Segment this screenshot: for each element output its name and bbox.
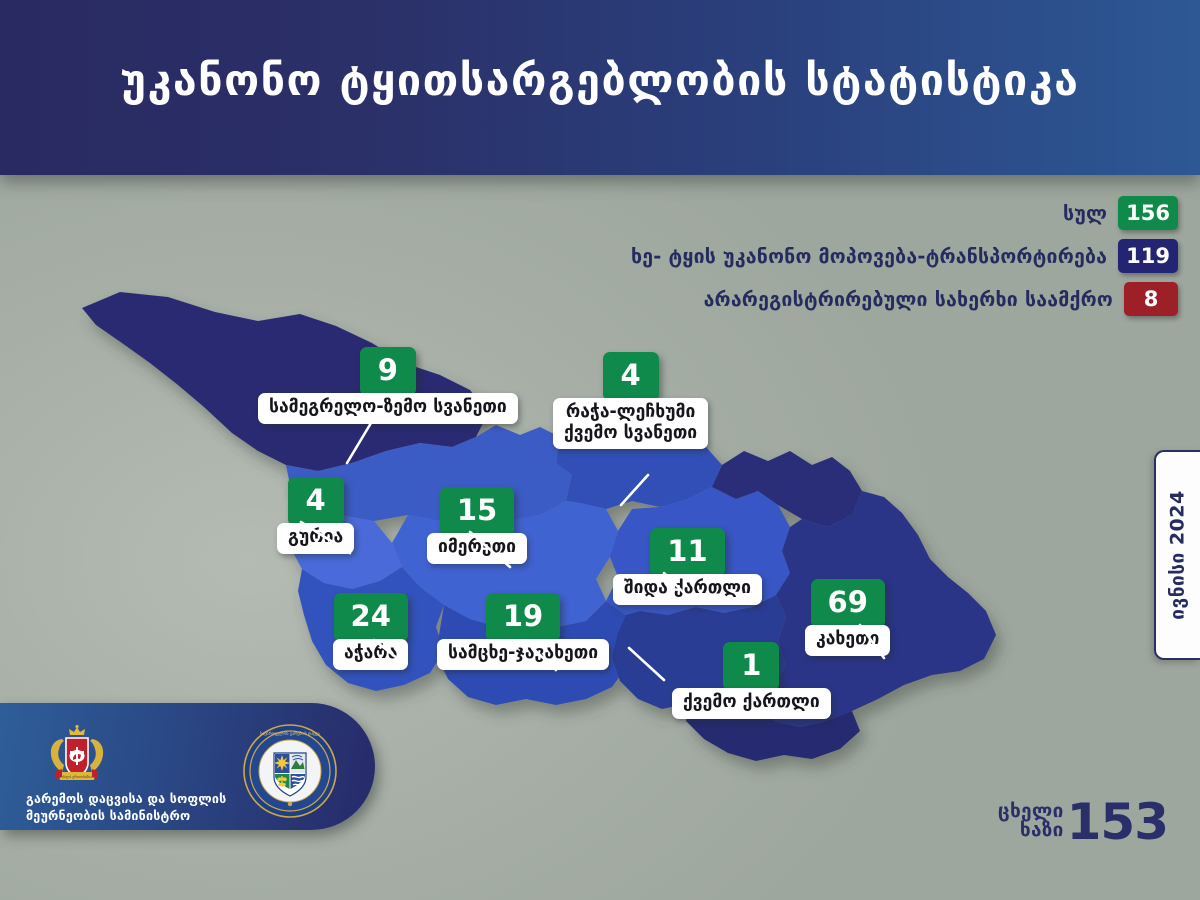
map-marker-shida-kartli[interactable]: 11 შიდა ქართლი — [613, 528, 762, 605]
map-marker-imereti[interactable]: 15 იმერეთი — [427, 487, 527, 564]
hotline-label-line1: ცხელი — [998, 802, 1064, 821]
date-label: ივნისი 2024 — [1167, 490, 1189, 619]
marker-value: 11 — [650, 528, 724, 577]
ministry-name: გარემოს დაცვისა და სოფლის მეურნეობის სამ… — [26, 791, 276, 824]
marker-label: სამცხე-ჯავახეთი — [437, 639, 609, 670]
hotline-label-line2: ხაზი — [998, 821, 1064, 840]
infographic-canvas: უკანონო ტყითსარგებლობის სტატისტიკა სულ 1… — [0, 0, 1200, 900]
hotline: ცხელი ხაზი 153 — [998, 799, 1168, 845]
marker-label: კახეთი — [805, 625, 890, 656]
georgia-coat-of-arms-icon: ძალა ერთობაშია — [42, 725, 112, 787]
marker-label: გურია — [277, 523, 354, 554]
map-marker-guria[interactable]: 4 გურია — [277, 477, 354, 554]
map-marker-samtskhe-javakheti[interactable]: 19 სამცხე-ჯავახეთი — [437, 593, 609, 670]
marker-value: 24 — [334, 593, 408, 642]
svg-text:ძალა ერთობაშია: ძალა ერთობაშია — [62, 775, 92, 779]
marker-value: 1 — [723, 642, 779, 691]
hotline-label: ცხელი ხაზი — [998, 802, 1064, 843]
map-marker-kakheti[interactable]: 69 კახეთი — [805, 579, 890, 656]
marker-label-line2: ქვემო სვანეთი — [564, 423, 697, 443]
ministry-name-line1: გარემოს დაცვისა და სოფლის — [26, 791, 276, 808]
marker-label: შიდა ქართლი — [613, 574, 762, 605]
page-title: უკანონო ტყითსარგებლობის სტატისტიკა — [121, 56, 1080, 120]
map-regions-group — [82, 292, 996, 761]
marker-value: 69 — [811, 579, 885, 628]
marker-label-line1: რაჭა-ლეჩხუმი — [566, 402, 696, 422]
date-tab: ივნისი 2024 — [1154, 450, 1200, 660]
map-marker-racha-lechkhumi[interactable]: 4 რაჭა-ლეჩხუმი ქვემო სვანეთი — [553, 352, 708, 449]
hotline-number: 153 — [1067, 799, 1168, 845]
ministry-seal-icon: საქართველოს გარემოს დაცვა — [242, 723, 338, 819]
map-marker-samegrelo-zemo-svaneti[interactable]: 9 სამეგრელო-ზემო სვანეთი — [258, 347, 518, 424]
marker-value: 9 — [360, 347, 416, 396]
header-banner: უკანონო ტყითსარგებლობის სტატისტიკა — [0, 0, 1200, 175]
marker-value: 4 — [603, 352, 659, 401]
map-marker-adjara[interactable]: 24 აჭარა — [333, 593, 408, 670]
ministry-name-line2: მეურნეობის სამინისტრო — [26, 808, 276, 825]
marker-label: ქვემო ქართლი — [672, 688, 831, 719]
marker-label: იმერეთი — [427, 533, 527, 564]
marker-value: 19 — [486, 593, 560, 642]
marker-label: რაჭა-ლეჩხუმი ქვემო სვანეთი — [553, 398, 708, 449]
marker-label: სამეგრელო-ზემო სვანეთი — [258, 393, 518, 424]
marker-label: აჭარა — [333, 639, 408, 670]
marker-value: 4 — [288, 477, 344, 526]
svg-text:საქართველოს გარემოს დაცვა: საქართველოს გარემოს დაცვა — [260, 731, 319, 736]
marker-value: 15 — [440, 487, 514, 536]
